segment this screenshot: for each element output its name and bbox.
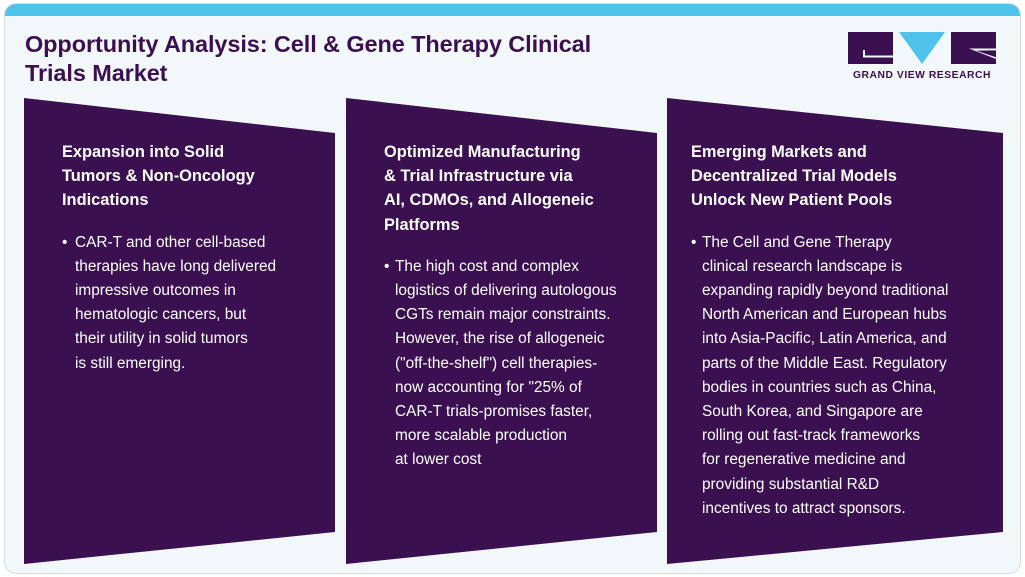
panel-emerging-markets: Emerging Markets and Decentralized Trial… [667,90,1003,574]
bullet-text: The high cost and complex logistics of d… [395,258,617,469]
panel-content: Optimized Manufacturing & Trial Infrastr… [346,90,657,574]
bullet-text: CAR-T and other cell-based therapies hav… [75,234,276,372]
panel-bullet-list: •The Cell and Gene Therapy clinical rese… [691,231,989,521]
header: Opportunity Analysis: Cell & Gene Therap… [5,16,1020,94]
panel-bullet-list: •CAR-T and other cell-based therapies ha… [62,231,319,376]
panel-heading: Optimized Manufacturing & Trial Infrastr… [384,140,641,237]
bullet-dot-icon: • [62,231,67,255]
panel-content: Emerging Markets and Decentralized Trial… [667,90,1003,574]
bullet-text: The Cell and Gene Therapy clinical resea… [702,234,948,517]
top-accent-bar [5,4,1020,16]
list-item: •The Cell and Gene Therapy clinical rese… [691,231,989,521]
grand-view-research-logo: GRAND VIEW RESEARCH [848,32,996,90]
page-title: Opportunity Analysis: Cell & Gene Therap… [25,30,715,88]
logo-g-icon [848,32,893,64]
panel-optimized-manufacturing: Optimized Manufacturing & Trial Infrastr… [346,90,657,574]
panel-heading: Expansion into Solid Tumors & Non-Oncolo… [62,140,319,213]
list-item: •The high cost and complex logistics of … [384,255,641,473]
logo-r-icon [951,32,996,64]
list-item: •CAR-T and other cell-based therapies ha… [62,231,319,376]
panel-content: Expansion into Solid Tumors & Non-Oncolo… [24,90,335,574]
logo-wordmark: GRAND VIEW RESEARCH [848,70,996,81]
logo-marks [848,32,996,64]
panel-expansion-solid-tumors: Expansion into Solid Tumors & Non-Oncolo… [24,90,335,574]
panels-container: Expansion into Solid Tumors & Non-Oncolo… [5,90,1021,574]
bullet-dot-icon: • [384,255,389,279]
bullet-dot-icon: • [691,231,696,255]
infographic-card: Opportunity Analysis: Cell & Gene Therap… [4,3,1021,574]
panel-heading: Emerging Markets and Decentralized Trial… [691,140,989,213]
panel-bullet-list: •The high cost and complex logistics of … [384,255,641,473]
logo-v-triangle-icon [899,32,945,64]
